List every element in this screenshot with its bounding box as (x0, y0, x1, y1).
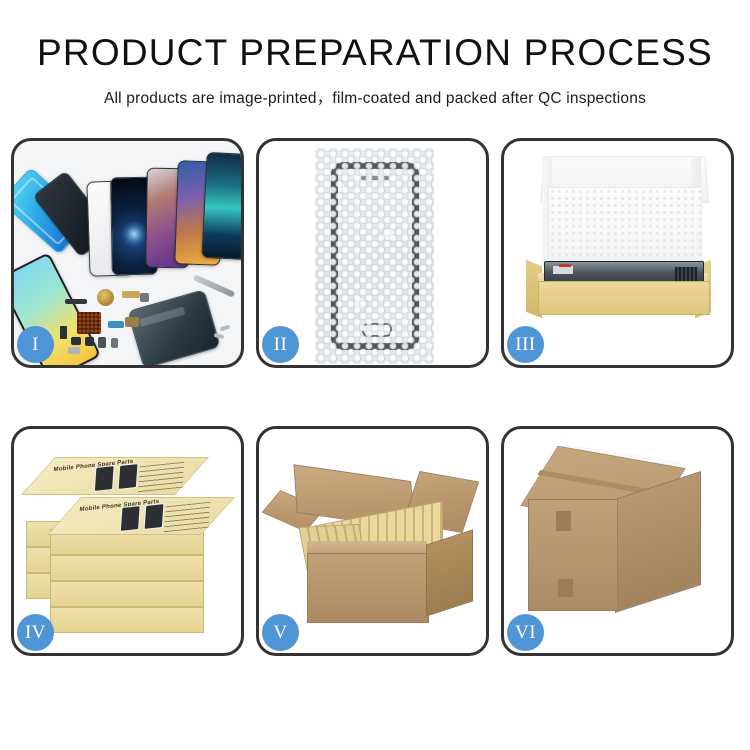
part-small-4 (98, 337, 106, 348)
carton-front-wall (307, 553, 429, 623)
box-spec-lines-front (164, 502, 210, 532)
box-front-wall (538, 281, 710, 315)
box-screen-print-2 (144, 503, 165, 530)
part-small-1 (60, 326, 67, 339)
phone-teal (201, 152, 241, 260)
page-header: PRODUCT PREPARATION PROCESS All products… (0, 0, 750, 108)
part-flex-cable-2 (108, 321, 124, 328)
step-badge-5: V (262, 614, 299, 651)
process-steps-grid: I II (11, 138, 739, 656)
step-badge-2: II (262, 326, 299, 363)
product-connector (675, 267, 697, 281)
part-chip-grid (77, 312, 101, 334)
bubble-texture (315, 148, 434, 364)
part-connector (140, 293, 149, 302)
product-red-mark (559, 264, 571, 267)
carton-tab-lower (558, 579, 573, 597)
step-badge-4: IV (17, 614, 54, 651)
box-spec-lines-back (138, 462, 184, 492)
part-bar (65, 299, 87, 304)
page-title: PRODUCT PREPARATION PROCESS (0, 34, 750, 73)
part-small-3 (85, 337, 94, 346)
step-panel-2[interactable]: II (256, 138, 489, 368)
stack-box-front-3 (50, 581, 204, 607)
bubble-wrap-icon (315, 148, 434, 364)
carton-tab-upper (556, 511, 571, 531)
step-panel-4[interactable]: Mobile Phone Spare Parts Mobile Phone Sp… (11, 426, 244, 656)
part-small-2 (71, 337, 81, 345)
step-panel-1[interactable]: I (11, 138, 244, 368)
part-small-5 (111, 338, 118, 348)
step-badge-1: I (17, 326, 54, 363)
page-subtitle: All products are image-printed，film-coat… (0, 86, 750, 108)
stacked-boxes-icon: Mobile Phone Spare Parts Mobile Phone Sp… (20, 447, 238, 643)
step-panel-6[interactable]: VI (501, 426, 734, 656)
part-screw-1 (220, 325, 231, 332)
step-badge-3: III (507, 326, 544, 363)
foam-texture (549, 188, 701, 264)
part-flex-cable-1 (122, 291, 140, 298)
step-badge-6: VI (507, 614, 544, 651)
box-screen-print-4 (118, 463, 139, 490)
carton-side-wall (426, 529, 473, 616)
part-coil (97, 289, 114, 306)
carton-front-face (528, 499, 618, 611)
part-flex-cable-3 (125, 317, 139, 327)
step-panel-3[interactable]: III (501, 138, 734, 368)
printed-lid-front: Mobile Phone Spare Parts (47, 497, 235, 535)
printed-lid-back: Mobile Phone Spare Parts (21, 457, 209, 495)
step-panel-5[interactable]: V (256, 426, 489, 656)
foam-padding (548, 187, 702, 265)
product-sticker (553, 266, 573, 274)
stack-box-front-2 (50, 555, 204, 581)
box-screen-print-3 (94, 465, 115, 492)
box-screen-print-1 (120, 505, 141, 532)
stack-box-front-4 (50, 607, 204, 633)
part-small-6 (68, 347, 80, 354)
